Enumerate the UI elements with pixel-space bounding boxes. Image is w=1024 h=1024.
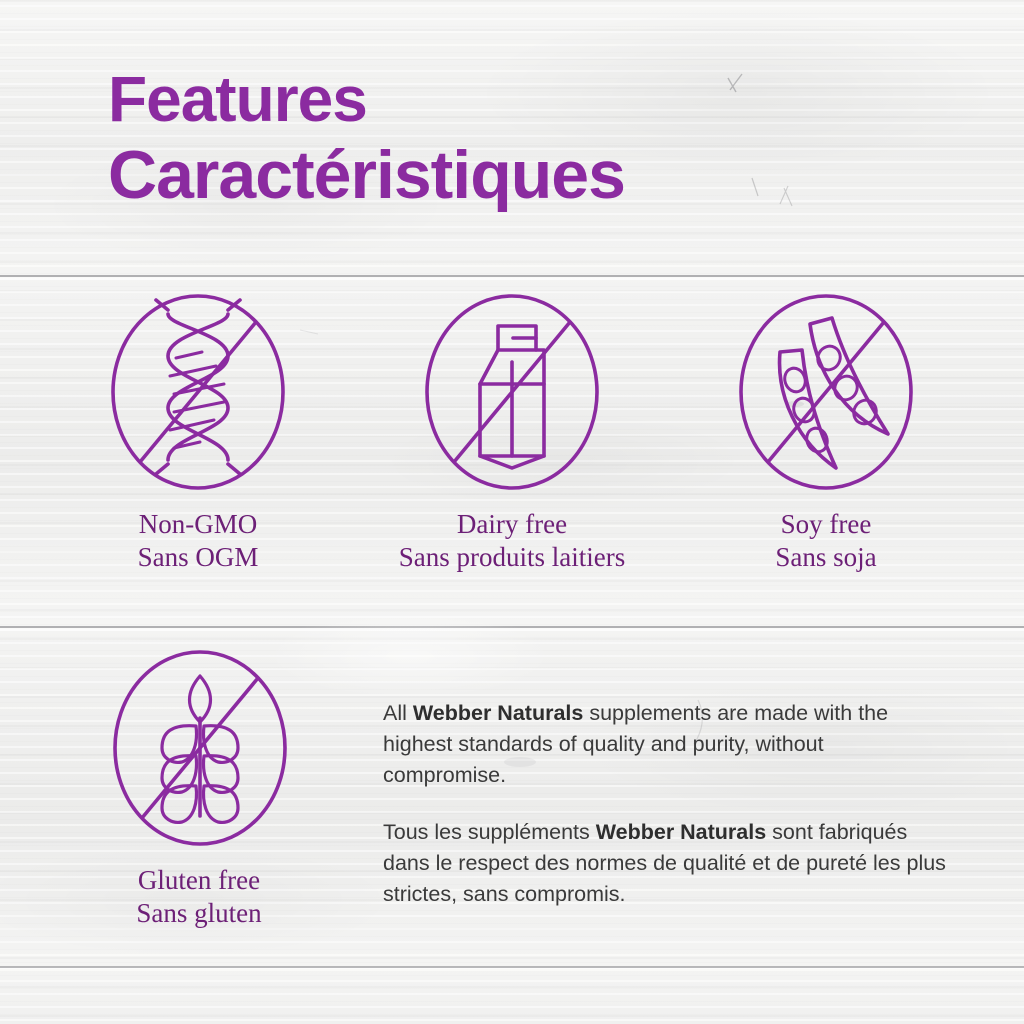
feature-gluten-free[interactable]: Gluten free Sans gluten xyxy=(106,648,292,930)
feature-label-fr: Sans OGM xyxy=(65,541,331,574)
feature-soy-free[interactable]: Soy free Sans soja xyxy=(693,292,959,574)
brand-name-en: Webber Naturals xyxy=(413,701,583,725)
body-paragraph-fr: Tous les suppléments Webber Naturals son… xyxy=(383,817,948,910)
no-wheat-icon xyxy=(106,648,294,848)
page-title-fr: Caractéristiques xyxy=(108,136,625,214)
page-title-en: Features xyxy=(108,62,625,136)
feature-dairy-free[interactable]: Dairy free Sans produits laitiers xyxy=(379,292,645,574)
feature-label-en: Dairy free xyxy=(379,508,645,541)
no-milk-carton-icon xyxy=(418,292,606,492)
feature-non-gmo[interactable]: Non-GMO Sans OGM xyxy=(65,292,331,574)
feature-label-en: Non-GMO xyxy=(65,508,331,541)
feature-panel: Features Caractéristiques xyxy=(0,0,1024,1024)
body-fr-prefix: Tous les suppléments xyxy=(383,820,596,844)
feature-label-en: Soy free xyxy=(693,508,959,541)
brand-name-fr: Webber Naturals xyxy=(596,820,766,844)
page-title: Features Caractéristiques xyxy=(108,62,625,214)
body-text-column: All Webber Naturals supplements are made… xyxy=(383,698,948,936)
feature-label-en: Gluten free xyxy=(106,864,292,897)
feature-label-fr: Sans soja xyxy=(693,541,959,574)
feature-label-fr: Sans gluten xyxy=(106,897,292,930)
body-en-prefix: All xyxy=(383,701,413,725)
no-soy-pods-icon xyxy=(732,292,920,492)
feature-label-fr: Sans produits laitiers xyxy=(379,541,645,574)
body-paragraph-en: All Webber Naturals supplements are made… xyxy=(383,698,948,791)
no-dna-icon xyxy=(104,292,292,492)
